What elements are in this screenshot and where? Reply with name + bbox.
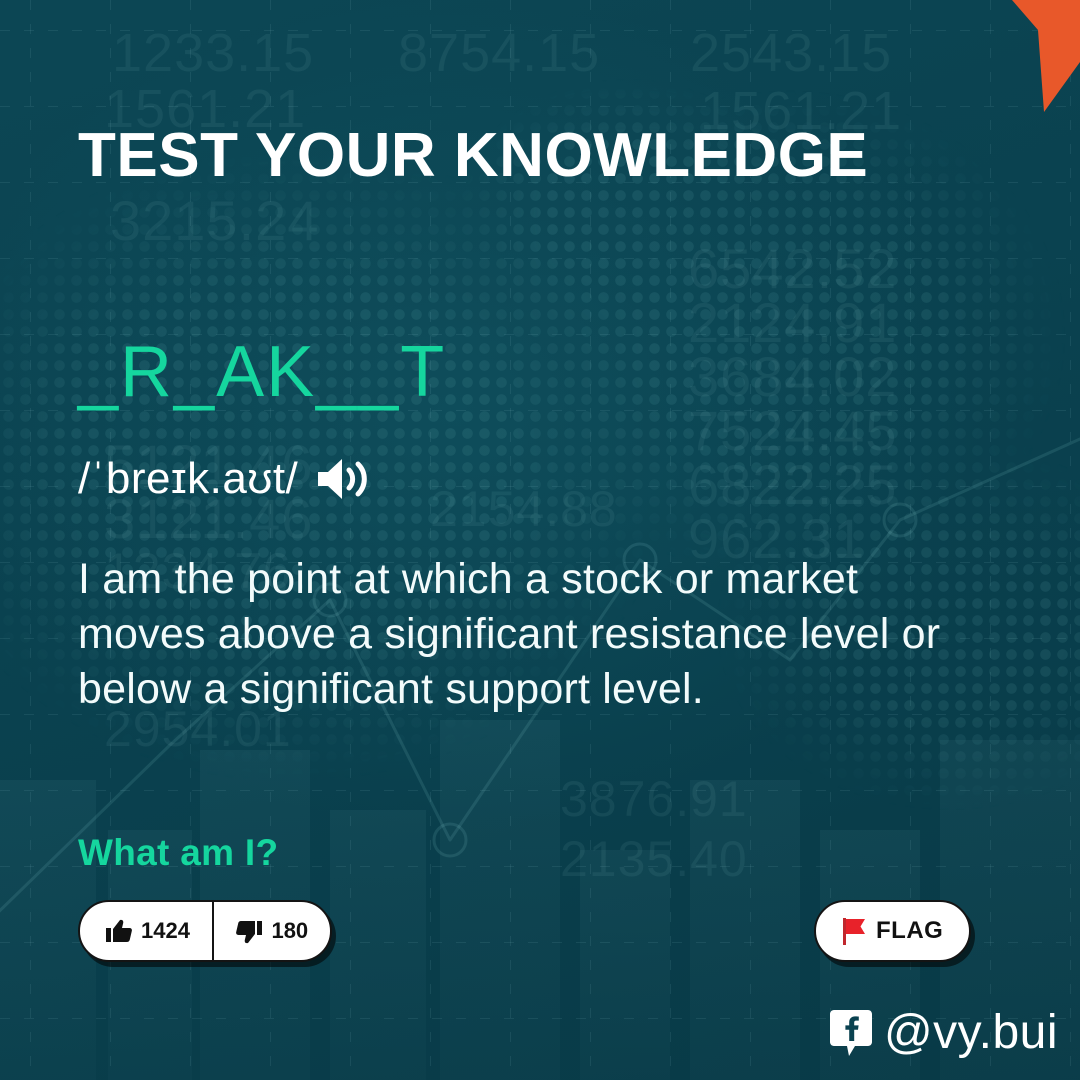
thumbs-down-button[interactable]: 180 <box>214 902 330 960</box>
thumbs-down-count: 180 <box>271 918 308 944</box>
flag-button[interactable]: FLAG <box>814 900 971 962</box>
quiz-prompt: What am I? <box>78 832 278 874</box>
speaker-icon[interactable] <box>316 456 370 502</box>
phonetic-transcription: /ˈbreɪk.aʊt/ <box>78 455 298 503</box>
thumbs-up-icon <box>106 919 132 944</box>
definition-text: I am the point at which a stock or marke… <box>78 552 958 717</box>
flag-icon <box>842 916 868 946</box>
handle-text: @vy.bui <box>884 1005 1058 1060</box>
facebook-icon <box>828 1008 874 1058</box>
thumbs-up-count: 1424 <box>141 918 190 944</box>
poster-canvas: 1233.151561.218754.152543.151561.213215.… <box>0 0 1080 1080</box>
social-handle[interactable]: @vy.bui <box>828 1005 1058 1060</box>
page-title: TEST YOUR KNOWLEDGE <box>78 125 868 187</box>
thumbs-down-icon <box>236 919 262 944</box>
orange-arrow-icon <box>960 0 1080 120</box>
puzzle-word: _R_AK__T <box>78 336 446 408</box>
thumbs-up-button[interactable]: 1424 <box>80 902 212 960</box>
vote-pill: 1424 180 <box>78 900 332 962</box>
poster-content: TEST YOUR KNOWLEDGE _R_AK__T /ˈbreɪk.aʊt… <box>0 0 1080 1080</box>
phonetic-row: /ˈbreɪk.aʊt/ <box>78 455 370 503</box>
flag-label: FLAG <box>876 917 943 945</box>
